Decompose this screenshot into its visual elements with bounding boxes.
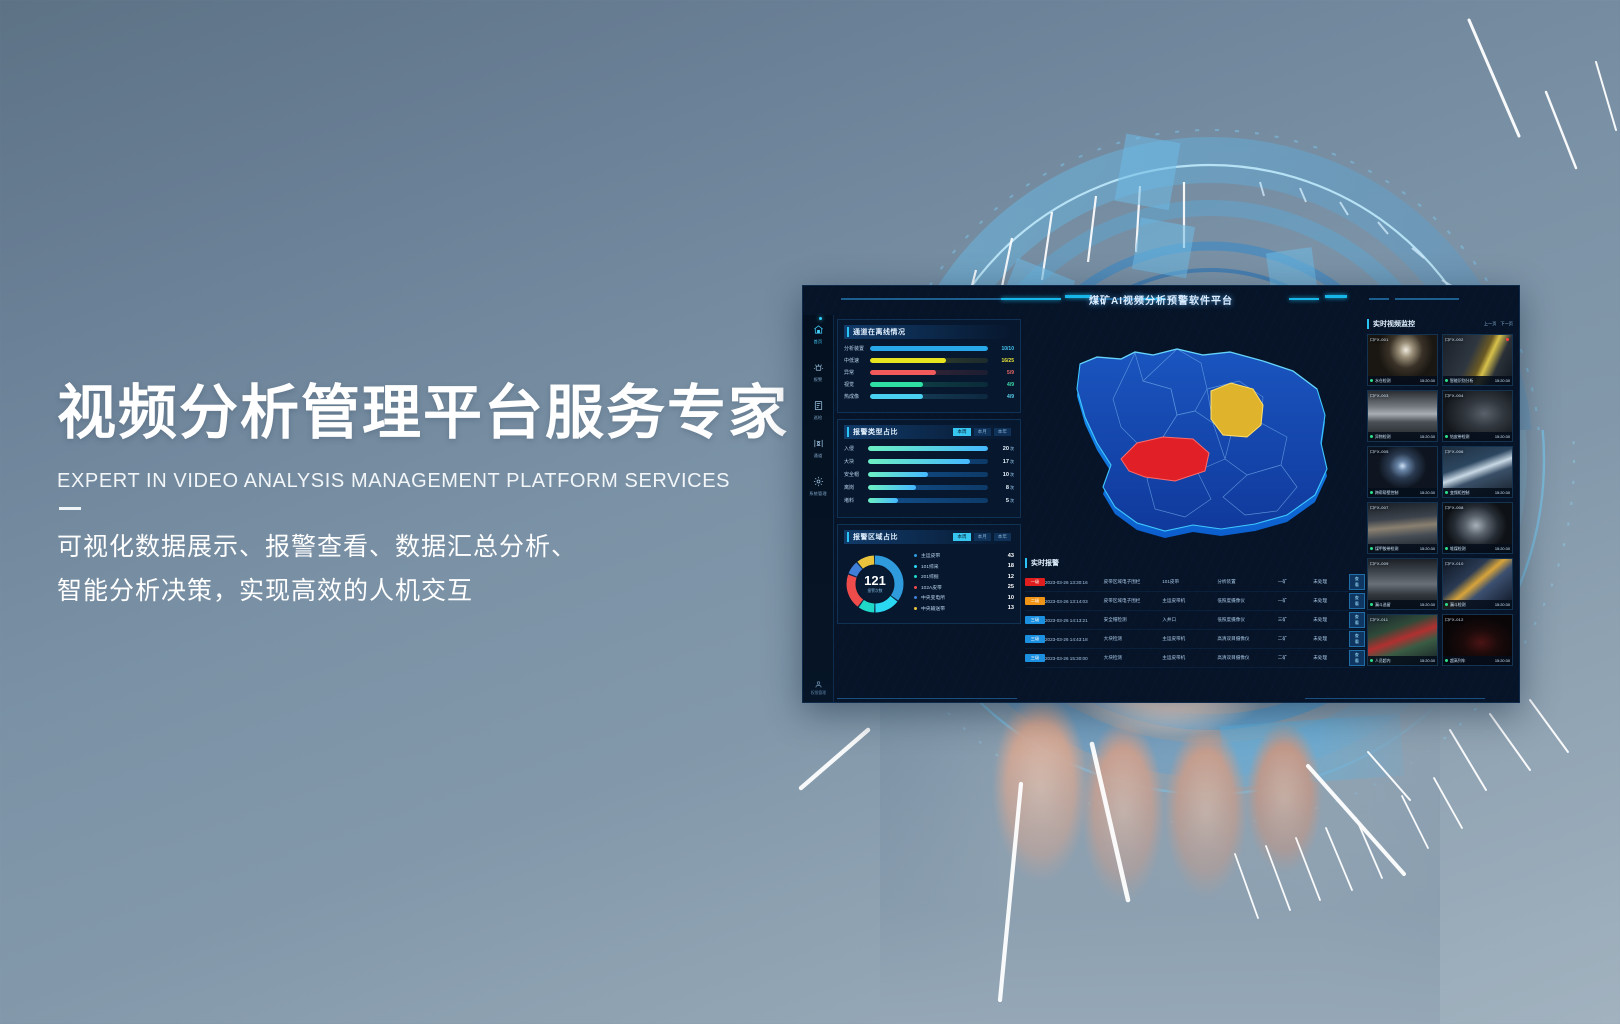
alarm-time: 2023-03-26 14:13:21 [1045,618,1104,623]
alarm-level-badge: 三级 [1025,635,1045,643]
alarm-status: 未处理 [1313,598,1349,604]
legend-color-dot [914,586,917,589]
sidebar-item-alarm-label: 报警 [814,377,823,383]
camera-name: 人员超内 [1375,658,1420,664]
view-button[interactable]: 查看 [1349,574,1365,590]
rail-indicator-dot [819,317,822,320]
video-thumbnail[interactable]: 口FX-008堆煤检测15:20:30 [1442,502,1513,554]
channel-status-row: 异常5/9 [844,369,1014,376]
channel-name: 热成像 [844,393,870,400]
sidebar-item-channel[interactable]: 通道 [803,429,833,467]
alarm-level-badge: 一级 [1025,578,1045,586]
panel-alarm-area: 报警区域占比 本周本月本年 121 报警次数 主运皮带43101综采18201综… [837,524,1021,624]
camera-id: 口FX-004 [1445,393,1464,399]
channel-name: 中低速 [844,357,870,364]
panel-alarm-area-title: 报警区域占比 [847,532,898,542]
alarm-level-badge: 二级 [1025,597,1045,605]
status-dot [1445,379,1448,382]
alarm-mine: 二矿 [1278,655,1314,661]
table-row: 一级2023-03-26 13:30:16皮带区域电子围栏101皮带分析装置一矿… [1025,573,1365,592]
dashboard-title: 煤矿AI视频分析预警软件平台 [803,292,1519,307]
alarm-type-value: 5次 [988,498,1014,504]
sidebar-item-inspection-label: 巡检 [814,415,823,421]
dashboard-screenshot: 煤矿AI视频分析预警软件平台 首页 报警 [802,285,1520,703]
legend-value: 13 [1008,605,1014,611]
status-dot [1370,547,1373,550]
alarm-channel: 主运皮带机 [1162,598,1217,604]
camera-name: 异物检测 [1375,434,1420,440]
sidebar-item-home-label: 首页 [814,339,823,345]
channel-value: 5/9 [988,370,1014,376]
camera-name: 漏斗检测 [1450,602,1495,608]
channel-value: 10/10 [988,346,1014,352]
sidebar-item-channel-label: 通道 [814,453,823,459]
page-title: 视频分析管理平台服务专家 [57,380,817,448]
alarm-action-cell: 查看 [1349,574,1365,590]
status-dot [1445,659,1448,662]
alarm-type: 安全帽检测 [1104,617,1163,623]
camera-id: 口FX-009 [1370,561,1389,567]
channel-progress-bar [870,370,988,375]
panel-alarm-type: 报警类型占比 本周本月本年 入侵20次大块17次安全帽10次离岗8次堵料5次 [837,419,1021,518]
legend-label: 201综掘 [921,573,1008,580]
legend-color-dot [914,596,917,599]
alarm-mine: 一矿 [1278,598,1314,604]
camera-name: 智能识别分析 [1450,378,1495,384]
inspection-icon [813,400,824,413]
alarm-action-cell: 查看 [1349,631,1365,647]
alarm-device: 低照度摄像仪 [1217,598,1277,604]
alarm-action-cell: 查看 [1349,650,1365,666]
camera-name: 跨帮帮壁控制 [1375,490,1420,496]
video-thumbnail[interactable]: 口FX-006变频柜控制15:20:30 [1442,446,1513,498]
channel-status-row: 视觉4/9 [844,381,1014,388]
alarm-type-row: 堵料5次 [844,497,1014,504]
table-row: 三级2023-03-26 14:43:18大块检测主运皮带机高清双目摄像仪二矿未… [1025,630,1365,649]
alarm-type-value: 17次 [988,459,1014,465]
channel-icon [813,438,824,451]
camera-time: 15:20:30 [1495,546,1510,551]
sidebar-rail: 首页 报警 巡检 [803,315,834,702]
channel-name: 异常 [844,369,870,376]
hero-divider [59,507,81,510]
channel-progress-bar [870,346,988,351]
alarm-type-value: 8次 [988,485,1014,491]
video-thumbnail[interactable]: 口FX-001水仓检测15:20:30 [1367,334,1438,386]
camera-id: 口FX-005 [1370,449,1389,455]
gear-icon [813,476,824,489]
camera-name: 水仓检测 [1375,378,1420,384]
status-dot [1370,379,1373,382]
sidebar-item-inspection[interactable]: 巡检 [803,391,833,429]
hero-description-line-1: 可视化数据展示、报警查看、数据汇总分析、 [57,526,817,570]
alarm-channel: 101皮带 [1162,579,1217,585]
video-thumbnail[interactable]: 口FX-003异物检测15:20:30 [1367,390,1438,442]
camera-id: 口FX-007 [1370,505,1389,511]
panel-alarm-type-title: 报警类型占比 [847,427,898,437]
donut-legend-item: 中央输送带13 [914,605,1014,612]
alarm-level-badge: 三级 [1025,654,1045,662]
alarm-area-tab[interactable]: 本年 [994,533,1011,541]
donut-legend-item: 中央变电所10 [914,594,1014,601]
video-thumbnail[interactable]: 口FX-010漏斗检测15:20:30 [1442,558,1513,610]
view-button[interactable]: 查看 [1349,631,1365,647]
alarm-type-progress-bar [868,485,988,490]
legend-label: 102A皮带 [921,584,1008,591]
alarm-status: 未处理 [1313,636,1349,642]
camera-id: 口FX-003 [1370,393,1389,399]
sidebar-item-home[interactable]: 首页 [803,315,833,353]
alarm-type-row: 入侵20次 [844,445,1014,452]
donut-legend-item: 主运皮带43 [914,552,1014,559]
alarm-device: 低照度摄像仪 [1217,617,1277,623]
alarm-table-title: 实时报警 [1025,558,1365,568]
alarm-type-rows: 入侵20次大块17次安全帽10次离岗8次堵料5次 [844,445,1014,504]
panel-channel-status-title: 通道在离线情况 [847,327,906,337]
alarm-channel: 主运皮带机 [1162,636,1217,642]
donut-legend-item: 101综采18 [914,563,1014,570]
legend-color-dot [914,565,917,568]
alarm-type: 大块检测 [1104,636,1163,642]
video-grid: 口FX-001水仓检测15:20:30口FX-002智能识别分析15:20:30… [1367,334,1513,666]
camera-time: 15:20:30 [1420,602,1435,607]
legend-color-dot [914,575,917,578]
alarm-status: 未处理 [1313,655,1349,661]
donut-center: 121 报警次数 [857,566,893,602]
alarm-type: 皮带区域电子围栏 [1104,579,1163,585]
channel-value: 4/9 [988,394,1014,400]
alarm-time: 2023-03-26 13:14:03 [1045,599,1104,604]
donut-center-value: 121 [864,574,886,587]
sidebar-item-system[interactable]: 系统管理 [803,467,833,505]
legend-value: 10 [1008,595,1014,601]
camera-id: 口FX-008 [1445,505,1464,511]
alarm-status: 未处理 [1313,579,1349,585]
sidebar-item-system-label: 系统管理 [809,491,827,497]
alarm-type: 皮带区域电子围栏 [1104,598,1163,604]
alarm-type-progress-bar [868,446,988,451]
camera-time: 15:20:30 [1420,378,1435,383]
camera-time: 15:20:30 [1420,546,1435,551]
channel-value: 4/9 [988,382,1014,388]
legend-label: 中央输送带 [921,605,1008,612]
camera-id: 口FX-006 [1445,449,1464,455]
status-dot [1445,491,1448,494]
camera-id: 口FX-001 [1370,337,1389,343]
legend-label: 101综采 [921,563,1008,570]
alarm-type-progress-bar [868,472,988,477]
alarm-type-progress-bar [868,459,988,464]
alarm-device: 高清双目摄像仪 [1217,655,1277,661]
donut-legend: 主运皮带43101综采18201综掘12102A皮带25中央变电所10中央输送带… [914,552,1014,616]
alarm-type-name: 堵料 [844,497,868,504]
panel-channel-status: 通道在离线情况 分析装置10/10中低速16/25异常5/9视觉4/9热成像4/… [837,319,1021,413]
alarm-type-tabs[interactable]: 本周本月本年 [953,428,1011,436]
alarm-status: 未处理 [1313,617,1349,623]
sidebar-item-permissions[interactable]: 权限管理 [803,680,834,696]
hero-subtitle: EXPERT IN VIDEO ANALYSIS MANAGEMENT PLAT… [57,470,817,493]
alarm-type-tab[interactable]: 本年 [994,428,1011,436]
alarm-channel: 主运皮带机 [1162,655,1217,661]
status-dot [1370,603,1373,606]
legend-label: 主运皮带 [921,552,1008,559]
alarm-type-value: 20次 [988,446,1014,452]
alarm-icon [813,362,824,375]
alarm-time: 2023-03-26 14:43:18 [1045,637,1104,642]
status-dot [1445,547,1448,550]
alarm-mine: 一矿 [1278,579,1314,585]
legend-value: 12 [1008,574,1014,580]
channel-value: 16/25 [988,358,1014,364]
camera-time: 15:20:30 [1495,378,1510,383]
hero-description-line-2: 智能分析决策，实现高效的人机交互 [57,570,817,614]
alarm-mine: 三矿 [1278,617,1314,623]
alarm-type: 大块检测 [1104,655,1163,661]
video-panel-title: 实时视频监控 [1367,319,1415,329]
alarm-type-row: 安全帽10次 [844,471,1014,478]
channel-status-row: 分析装置10/10 [844,345,1014,352]
alarm-level-badge: 三级 [1025,616,1045,624]
alarm-type-name: 安全帽 [844,471,868,478]
legend-value: 25 [1008,584,1014,590]
video-thumbnail[interactable]: 口FX-002智能识别分析15:20:30 [1442,334,1513,386]
alarm-action-cell: 查看 [1349,612,1365,628]
alarm-mine: 二矿 [1278,636,1314,642]
legend-color-dot [914,607,917,610]
camera-name: 变频柜控制 [1450,490,1495,496]
status-dot [1370,659,1373,662]
recording-indicator [1506,338,1509,341]
view-button[interactable]: 查看 [1349,650,1365,666]
donut-legend-item: 201综掘12 [914,573,1014,580]
alarm-area-tab[interactable]: 本周 [953,533,970,541]
channel-name: 视觉 [844,381,870,388]
alarm-type-tab[interactable]: 本月 [974,428,991,436]
alarm-table: 实时报警 一级2023-03-26 13:30:16皮带区域电子围栏101皮带分… [1025,558,1365,694]
alarm-type-row: 大块17次 [844,458,1014,465]
camera-id: 口FX-012 [1445,617,1464,623]
camera-id: 口FX-010 [1445,561,1464,567]
channel-progress-bar [870,358,988,363]
camera-id: 口FX-002 [1445,337,1464,343]
channel-progress-bar [870,394,988,399]
alarm-type-name: 大块 [844,458,868,465]
camera-name: 堆煤检测 [1450,546,1495,552]
camera-time: 15:20:30 [1420,658,1435,663]
status-dot [1445,435,1448,438]
view-button[interactable]: 查看 [1349,612,1365,628]
hero-text-block: 视频分析管理平台服务专家 EXPERT IN VIDEO ANALYSIS MA… [57,380,817,613]
legend-label: 中央变电所 [921,594,1008,601]
camera-time: 15:20:30 [1420,434,1435,439]
video-thumbnail[interactable]: 口FX-011人员超内15:20:30 [1367,614,1438,666]
alarm-area-donut-chart: 121 报警次数 [844,553,906,615]
status-dot [1370,435,1373,438]
camera-id: 口FX-011 [1370,617,1388,623]
status-dot [1445,603,1448,606]
channel-progress-bar [870,382,988,387]
alarm-type-name: 离岗 [844,484,868,491]
alarm-device: 分析装置 [1217,579,1277,585]
status-dot [1370,491,1373,494]
channel-status-row: 热成像4/9 [844,393,1014,400]
video-monitor-panel: 实时视频监控 上一页 下一页 口FX-001水仓检测15:20:30口FX-00… [1367,319,1513,694]
table-row: 三级2023-03-26 14:13:21安全帽检测入井口低照度摄像仪三矿未处理… [1025,611,1365,630]
alarm-device: 高清双目摄像仪 [1217,636,1277,642]
camera-time: 15:20:30 [1420,490,1435,495]
video-thumbnail[interactable]: 口FX-005跨帮帮壁控制15:20:30 [1367,446,1438,498]
camera-time: 15:20:30 [1495,602,1510,607]
camera-name: 超高列车 [1450,658,1495,664]
video-thumbnail[interactable]: 口FX-009漏斗选留15:20:30 [1367,558,1438,610]
table-row: 三级2023-03-26 15:30:00大块检测主运皮带机高清双目摄像仪二矿未… [1025,649,1365,668]
alarm-time: 2023-03-26 15:30:00 [1045,656,1104,661]
legend-value: 18 [1008,563,1014,569]
channel-status-rows: 分析装置10/10中低速16/25异常5/9视觉4/9热成像4/9 [844,345,1014,400]
alarm-type-value: 10次 [988,472,1014,478]
alarm-type-tab[interactable]: 本周 [953,428,970,436]
view-button[interactable]: 查看 [1349,593,1365,609]
video-thumbnail[interactable]: 口FX-004钻皮带检测15:20:30 [1442,390,1513,442]
channel-name: 分析装置 [844,345,870,352]
alarm-action-cell: 查看 [1349,593,1365,609]
alarm-type-name: 入侵 [844,445,868,452]
prev-page-button[interactable]: 上一页 [1484,321,1497,327]
alarm-type-progress-bar [868,498,988,503]
legend-color-dot [914,554,917,557]
left-panel-column: 通道在离线情况 分析装置10/10中低速16/25异常5/9视觉4/9热成像4/… [837,319,1021,694]
legend-value: 43 [1008,553,1014,559]
province-map[interactable] [1025,319,1365,551]
alarm-area-tabs[interactable]: 本周本月本年 [953,533,1011,541]
table-row: 二级2023-03-26 13:14:03皮带区域电子围栏主运皮带机低照度摄像仪… [1025,592,1365,611]
alarm-type-row: 离岗8次 [844,484,1014,491]
camera-name: 煤甲胶带检测 [1375,546,1420,552]
camera-time: 15:20:30 [1495,658,1510,663]
home-icon [813,324,824,337]
map-frame [1025,319,1365,551]
video-thumbnail[interactable]: 口FX-007煤甲胶带检测15:20:30 [1367,502,1438,554]
camera-name: 漏斗选留 [1375,602,1420,608]
channel-status-row: 中低速16/25 [844,357,1014,364]
alarm-area-tab[interactable]: 本月 [974,533,991,541]
alarm-time: 2023-03-26 13:30:16 [1045,580,1104,585]
donut-center-label: 报警次数 [867,589,882,594]
dashboard-header: 煤矿AI视频分析预警软件平台 [803,286,1519,315]
camera-time: 15:20:30 [1495,490,1510,495]
camera-name: 钻皮带检测 [1450,434,1495,440]
alarm-channel: 入井口 [1162,617,1217,623]
dashboard-footer-decoration [803,695,1519,702]
donut-legend-item: 102A皮带25 [914,584,1014,591]
next-page-button[interactable]: 下一页 [1500,321,1513,327]
video-thumbnail[interactable]: 口FX-012超高列车15:20:30 [1442,614,1513,666]
alarm-table-body: 一级2023-03-26 13:30:16皮带区域电子围栏101皮带分析装置一矿… [1025,573,1365,668]
sidebar-item-alarm[interactable]: 报警 [803,353,833,391]
camera-time: 15:20:30 [1495,434,1510,439]
